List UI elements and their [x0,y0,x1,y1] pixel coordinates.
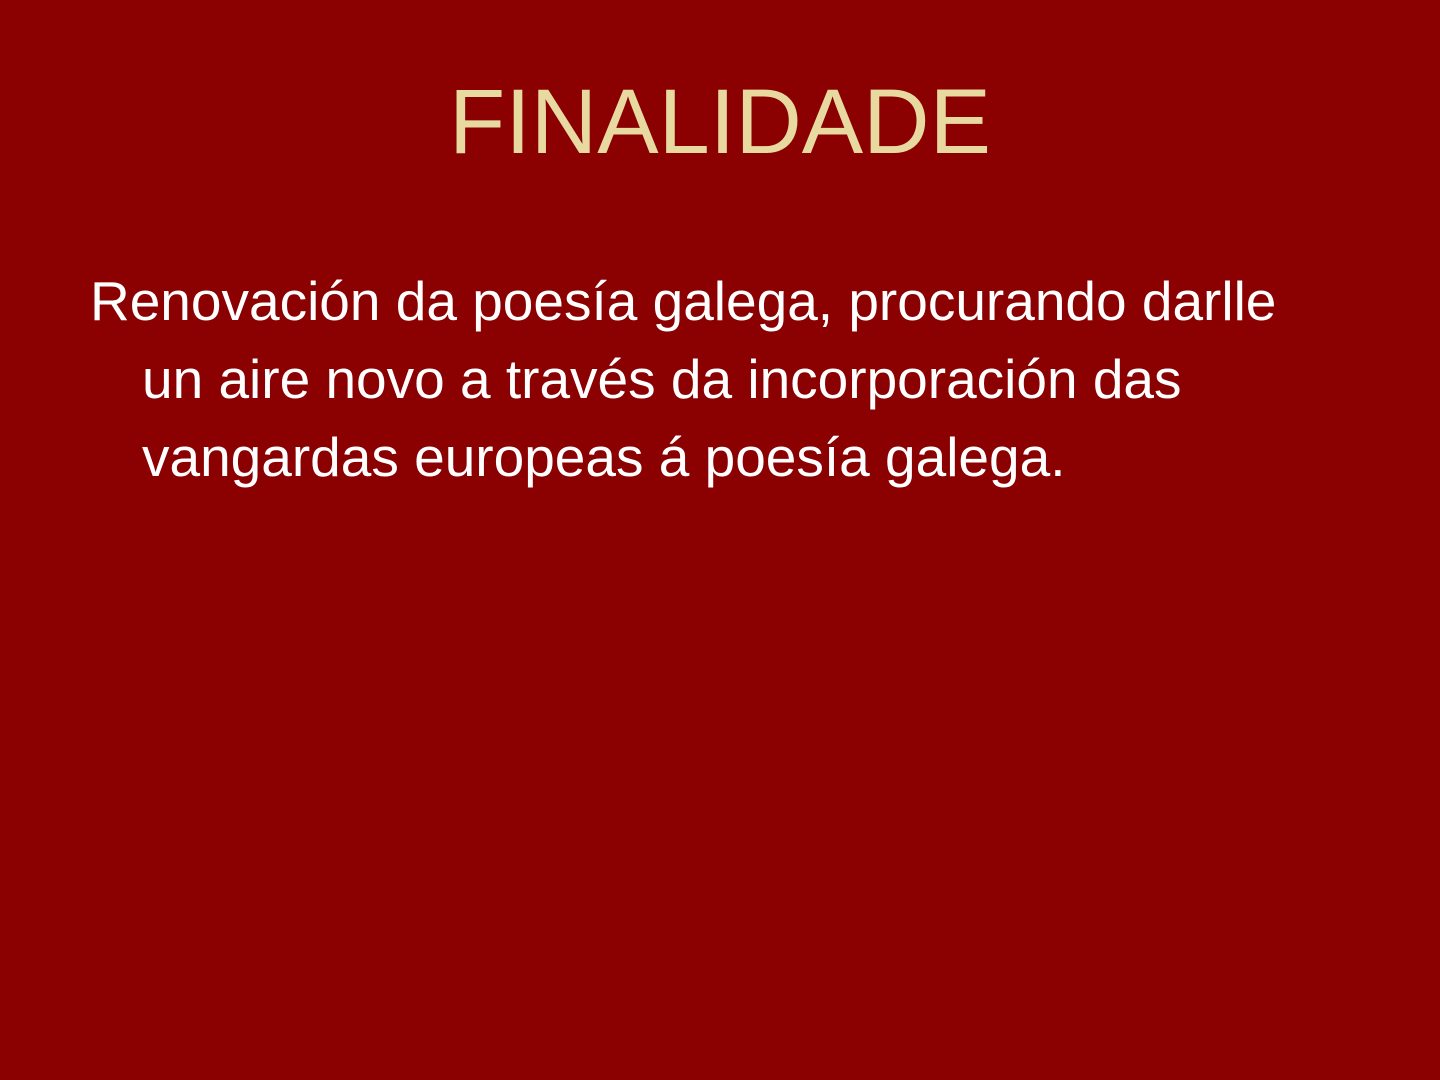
slide-body-text-box[interactable]: Renovación da poesía galega, procurando … [90,262,1352,496]
page-title: FINALIDADE [0,76,1440,168]
presentation-slide: FINALIDADE Renovación da poesía galega, … [0,0,1440,1080]
body-paragraph: Renovación da poesía galega, procurando … [90,262,1352,496]
